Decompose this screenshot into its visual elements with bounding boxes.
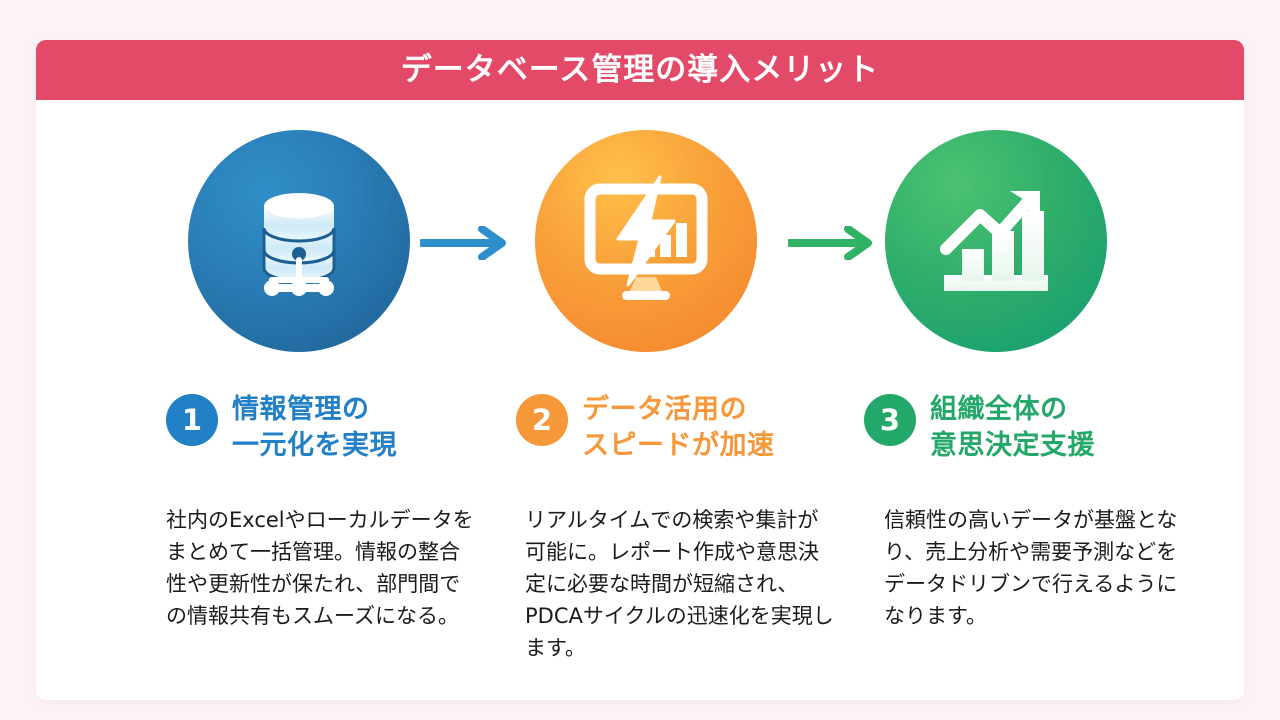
step-2-number-badge: 2 (516, 394, 568, 446)
growth-chart-arrow-icon (928, 173, 1064, 309)
step-2-heading-block: 2 データ活用の スピードが加速 (516, 390, 775, 464)
database-icon (234, 176, 364, 306)
step-2-heading: データ活用の スピードが加速 (582, 390, 775, 464)
step-2-description: リアルタイムでの検索や集計が可能に。レポート作成や意思決定に必要な時間が短縮され… (525, 505, 837, 665)
headings-row: 1 情報管理の 一元化を実現 2 データ活用の スピードが加速 3 組織全体の … (36, 390, 1244, 490)
step-3-heading-block: 3 組織全体の 意思決定支援 (864, 390, 1095, 464)
step-3-heading: 組織全体の 意思決定支援 (930, 390, 1095, 464)
step-3-description: 信頼性の高いデータが基盤となり、売上分析や需要予測などをデータドリブンで行えるよ… (884, 505, 1196, 633)
step-3-number-badge: 3 (864, 394, 916, 446)
step-1-icon-circle (188, 130, 410, 352)
arrow-right-icon-2 (788, 226, 884, 260)
page-title: データベース管理の導入メリット (401, 55, 879, 86)
icon-row (36, 130, 1244, 370)
step-1-heading: 情報管理の 一元化を実現 (232, 390, 397, 464)
infographic-card: データベース管理の導入メリット (36, 40, 1244, 700)
step-1-number-badge: 1 (166, 394, 218, 446)
card-header: データベース管理の導入メリット (36, 40, 1244, 100)
arrow-right-icon-1 (420, 226, 516, 260)
step-1-heading-block: 1 情報管理の 一元化を実現 (166, 390, 397, 464)
step-1-description: 社内のExcelやローカルデータをまとめて一括管理。情報の整合性や更新性が保たれ… (166, 505, 478, 633)
infographic-stage: データベース管理の導入メリット (0, 0, 1280, 720)
step-3-icon-circle (885, 130, 1107, 352)
card-body: 1 情報管理の 一元化を実現 2 データ活用の スピードが加速 3 組織全体の … (36, 100, 1244, 700)
monitor-lightning-chart-icon (576, 173, 716, 309)
step-2-icon-circle (535, 130, 757, 352)
